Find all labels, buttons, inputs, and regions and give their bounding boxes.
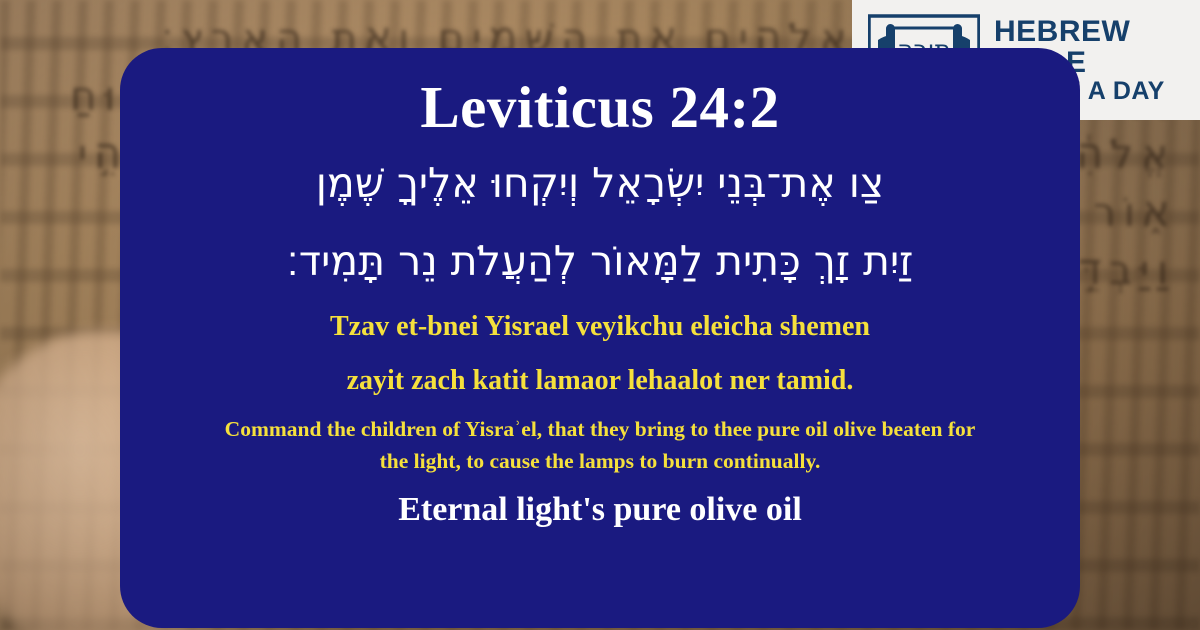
hebrew-verse-line-1: צַו אֶת־בְּנֵי יִשְׂרָאֵל וְיִקְחוּ אֵלֶ… [162,150,1038,216]
transliteration-line-1: Tzav et-bnei Yisrael veyikchu eleicha sh… [194,307,1006,347]
transliteration-line-2: zayit zach katit lamaor lehaalot ner tam… [194,361,1006,401]
hebrew-verse-line-2: זַיִת זָךְ כָּתִית לַמָּאוֹר לְהַעֲלֹת נ… [162,228,1038,294]
verse-reference: Leviticus 24:2 [154,74,1046,140]
verse-card: Leviticus 24:2 צַו אֶת־בְּנֵי יִשְׂרָאֵל… [120,48,1080,628]
english-translation: Command the children of Yisraʾel, that t… [208,414,992,477]
verse-graphic: בְּרֵאשִׁ֖ית בָּרָ֣א אֱלֹהִ֑ים אֵ֥ת הַשָ… [0,0,1200,630]
brand-line-hebrew: HEBREW [994,17,1165,47]
verse-tagline: Eternal light's pure olive oil [154,490,1046,531]
